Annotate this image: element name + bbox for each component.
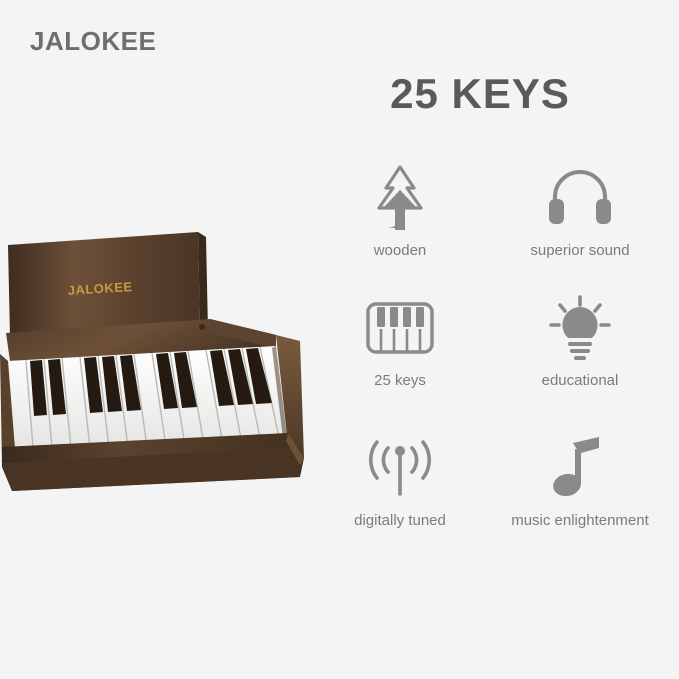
feature-grid: wooden superior sound	[310, 160, 670, 560]
product-image: JALOKEE	[0, 215, 320, 505]
feature-item-educational: educational	[490, 290, 670, 430]
antenna-signal-icon	[363, 430, 437, 506]
feature-label: educational	[542, 372, 619, 389]
page-title: 25 KEYS	[330, 70, 630, 118]
feature-label: 25 keys	[374, 372, 426, 389]
music-note-icon	[551, 430, 609, 506]
feature-item-25-keys: 25 keys	[310, 290, 490, 430]
tree-icon	[369, 160, 431, 236]
feature-item-superior-sound: superior sound	[490, 160, 670, 290]
feature-label: digitally tuned	[354, 512, 446, 529]
piano-keys-icon	[364, 290, 436, 366]
feature-item-digitally-tuned: digitally tuned	[310, 430, 490, 560]
headphones-icon	[545, 160, 615, 236]
feature-label: superior sound	[530, 242, 629, 259]
lightbulb-icon	[547, 290, 613, 366]
feature-item-music-enlightenment: music enlightenment	[490, 430, 670, 560]
brand-logo: JALOKEE	[30, 26, 156, 57]
feature-item-wooden: wooden	[310, 160, 490, 290]
feature-label: music enlightenment	[511, 512, 649, 529]
feature-label: wooden	[374, 242, 427, 259]
